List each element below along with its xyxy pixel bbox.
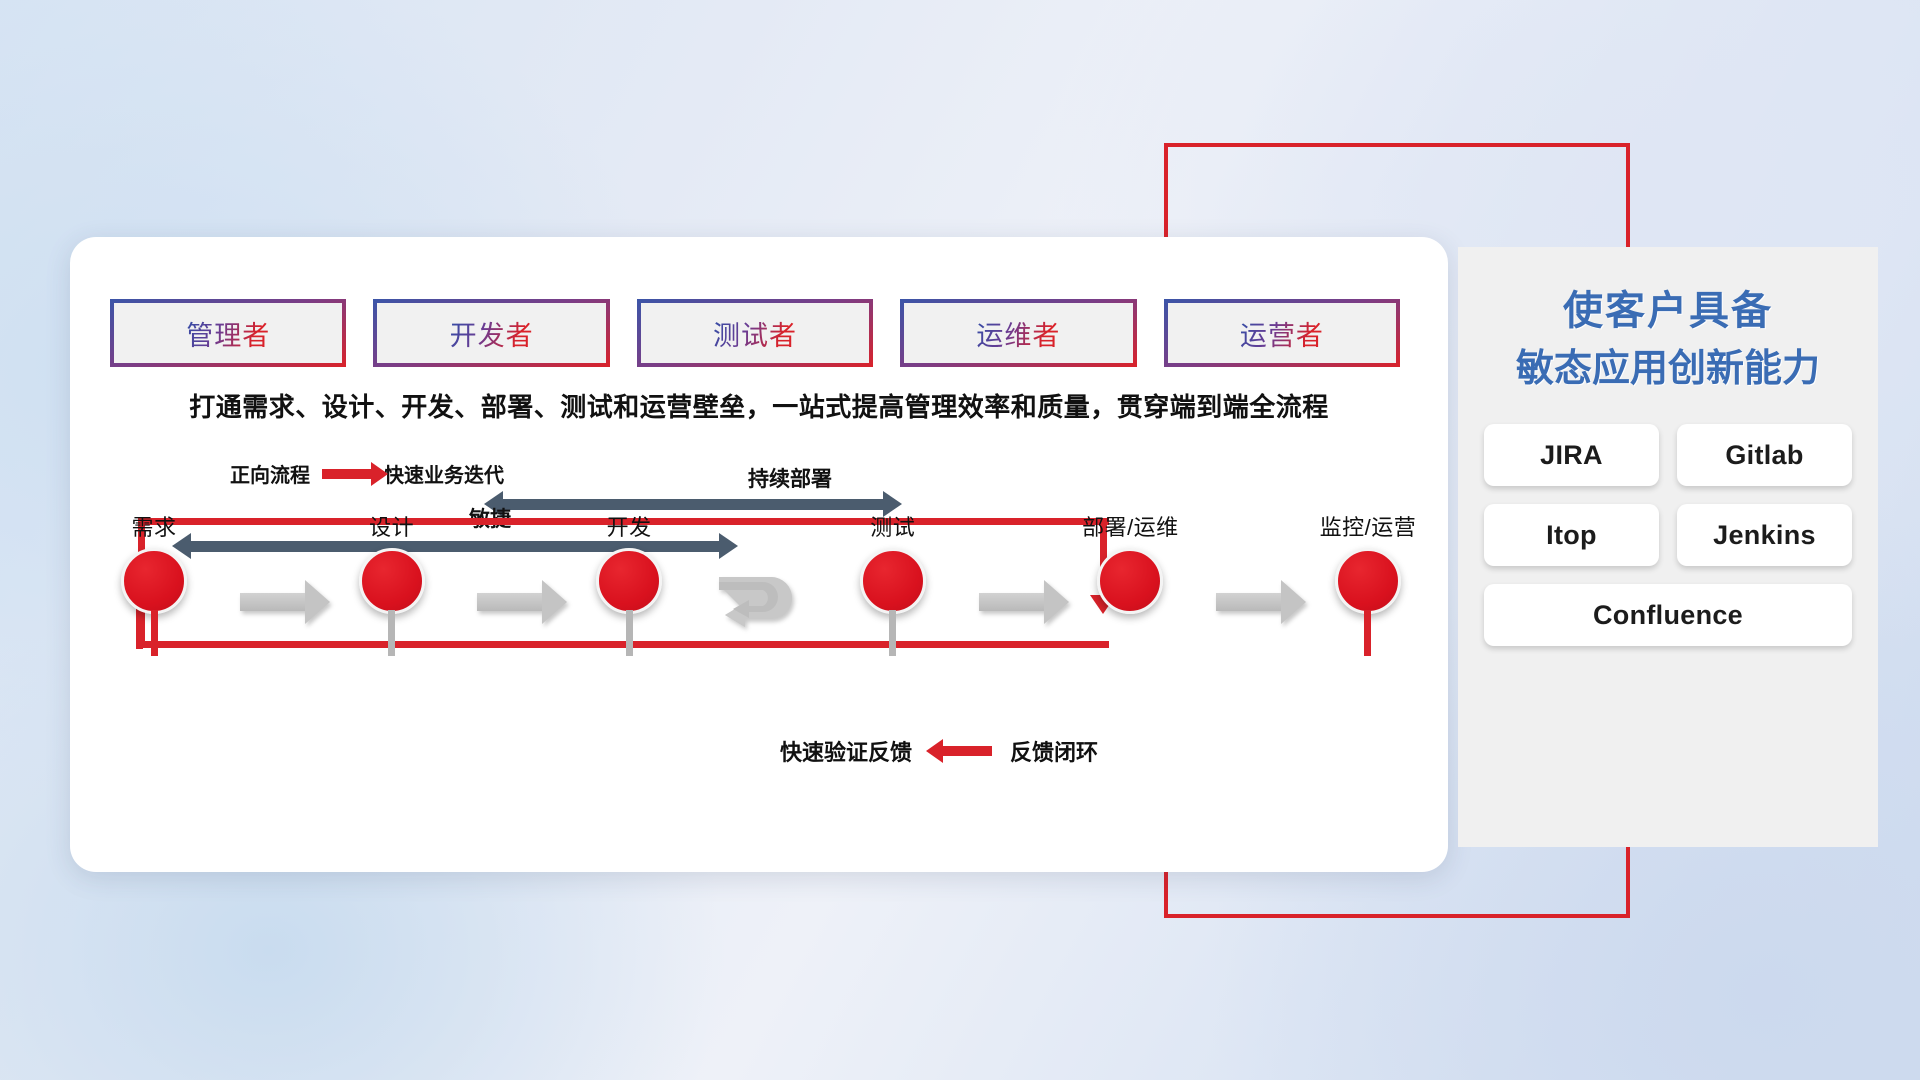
main-card: 管理者 开发者 测试者 运维者 运营者 打通需求、设计、开发、部署、测试和运营壁… (70, 237, 1448, 872)
role-box-business-operations[interactable]: 运营者 (1164, 299, 1400, 367)
role-box-tester[interactable]: 测试者 (637, 299, 873, 367)
role-box-list: 管理者 开发者 测试者 运维者 运营者 (110, 299, 1400, 367)
stage-dot-icon (359, 548, 425, 614)
continuous-deployment-label: 持续部署 (630, 463, 950, 493)
stage-dot-icon (1097, 548, 1163, 614)
tool-button-jenkins[interactable]: Jenkins (1677, 504, 1852, 566)
stage-label: 测试 (870, 510, 915, 542)
slide-canvas: 管理者 开发者 测试者 运维者 运营者 打通需求、设计、开发、部署、测试和运营壁… (0, 0, 1920, 1080)
role-box-operations[interactable]: 运维者 (900, 299, 1136, 367)
stage-label: 设计 (369, 510, 414, 542)
grey-arrow-right-icon (477, 593, 543, 611)
stage-stem (388, 610, 395, 656)
role-label: 测试者 (713, 314, 797, 353)
grey-arrow-right-icon (240, 593, 306, 611)
role-box-manager[interactable]: 管理者 (110, 299, 346, 367)
grey-arrow-right-icon (1216, 593, 1282, 611)
feedback-caption: 快速验证反馈 反馈闭环 (780, 735, 1098, 767)
stage-stem (1364, 610, 1371, 656)
stage-dot-icon (860, 548, 926, 614)
stage-dot-icon (596, 548, 662, 614)
stage-label: 监控/运营 (1320, 510, 1417, 542)
feedback-right-label: 反馈闭环 (1010, 735, 1098, 767)
red-arrow-right-icon (322, 469, 372, 479)
pipeline-stage-design[interactable]: 设计 (344, 548, 440, 656)
stage-label: 开发 (607, 510, 652, 542)
stage-label: 需求 (131, 510, 176, 542)
forward-flow-caption: 正向流程 快速业务迭代 (230, 459, 504, 488)
stage-dot-icon (1335, 548, 1401, 614)
pipeline: 需求 设计 开发 (106, 537, 1416, 667)
forward-flow-right-label: 快速业务迭代 (384, 459, 504, 488)
loop-back-icon (715, 572, 807, 632)
tool-button-confluence[interactable]: Confluence (1484, 584, 1852, 646)
panel-heading-line1: 使客户具备 (1484, 281, 1852, 341)
role-box-developer[interactable]: 开发者 (373, 299, 609, 367)
stage-label: 部署/运维 (1082, 510, 1179, 542)
panel-heading-line2: 敏态应用创新能力 (1484, 341, 1852, 398)
description-text: 打通需求、设计、开发、部署、测试和运营壁垒，一站式提高管理效率和质量，贯穿端到端… (70, 387, 1448, 424)
pipeline-stage-testing[interactable]: 测试 (845, 548, 941, 656)
stage-stem (151, 610, 158, 656)
tool-button-itop[interactable]: Itop (1484, 504, 1659, 566)
stage-dot-icon (121, 548, 187, 614)
role-label: 运维者 (976, 314, 1060, 353)
tool-button-jira[interactable]: JIRA (1484, 424, 1659, 486)
pipeline-stage-development[interactable]: 开发 (581, 548, 677, 656)
feedback-left-label: 快速验证反馈 (780, 735, 912, 767)
red-arrow-left-icon (942, 746, 992, 756)
role-label: 管理者 (186, 314, 270, 353)
tool-list: JIRA Gitlab Itop Jenkins Confluence (1484, 424, 1852, 646)
right-panel: 使客户具备 敏态应用创新能力 JIRA Gitlab Itop Jenkins … (1458, 247, 1878, 847)
grey-arrow-right-icon (979, 593, 1045, 611)
pipeline-stage-requirements[interactable]: 需求 (106, 548, 202, 656)
role-label: 开发者 (450, 314, 534, 353)
role-label: 运营者 (1240, 314, 1324, 353)
pipeline-stage-deployment-ops[interactable]: 部署/运维 (1082, 548, 1178, 656)
forward-flow-left-label: 正向流程 (230, 459, 310, 488)
stage-stem (626, 610, 633, 656)
pipeline-stage-monitoring-operations[interactable]: 监控/运营 (1320, 548, 1416, 656)
stage-stem (889, 610, 896, 656)
tool-button-gitlab[interactable]: Gitlab (1677, 424, 1852, 486)
